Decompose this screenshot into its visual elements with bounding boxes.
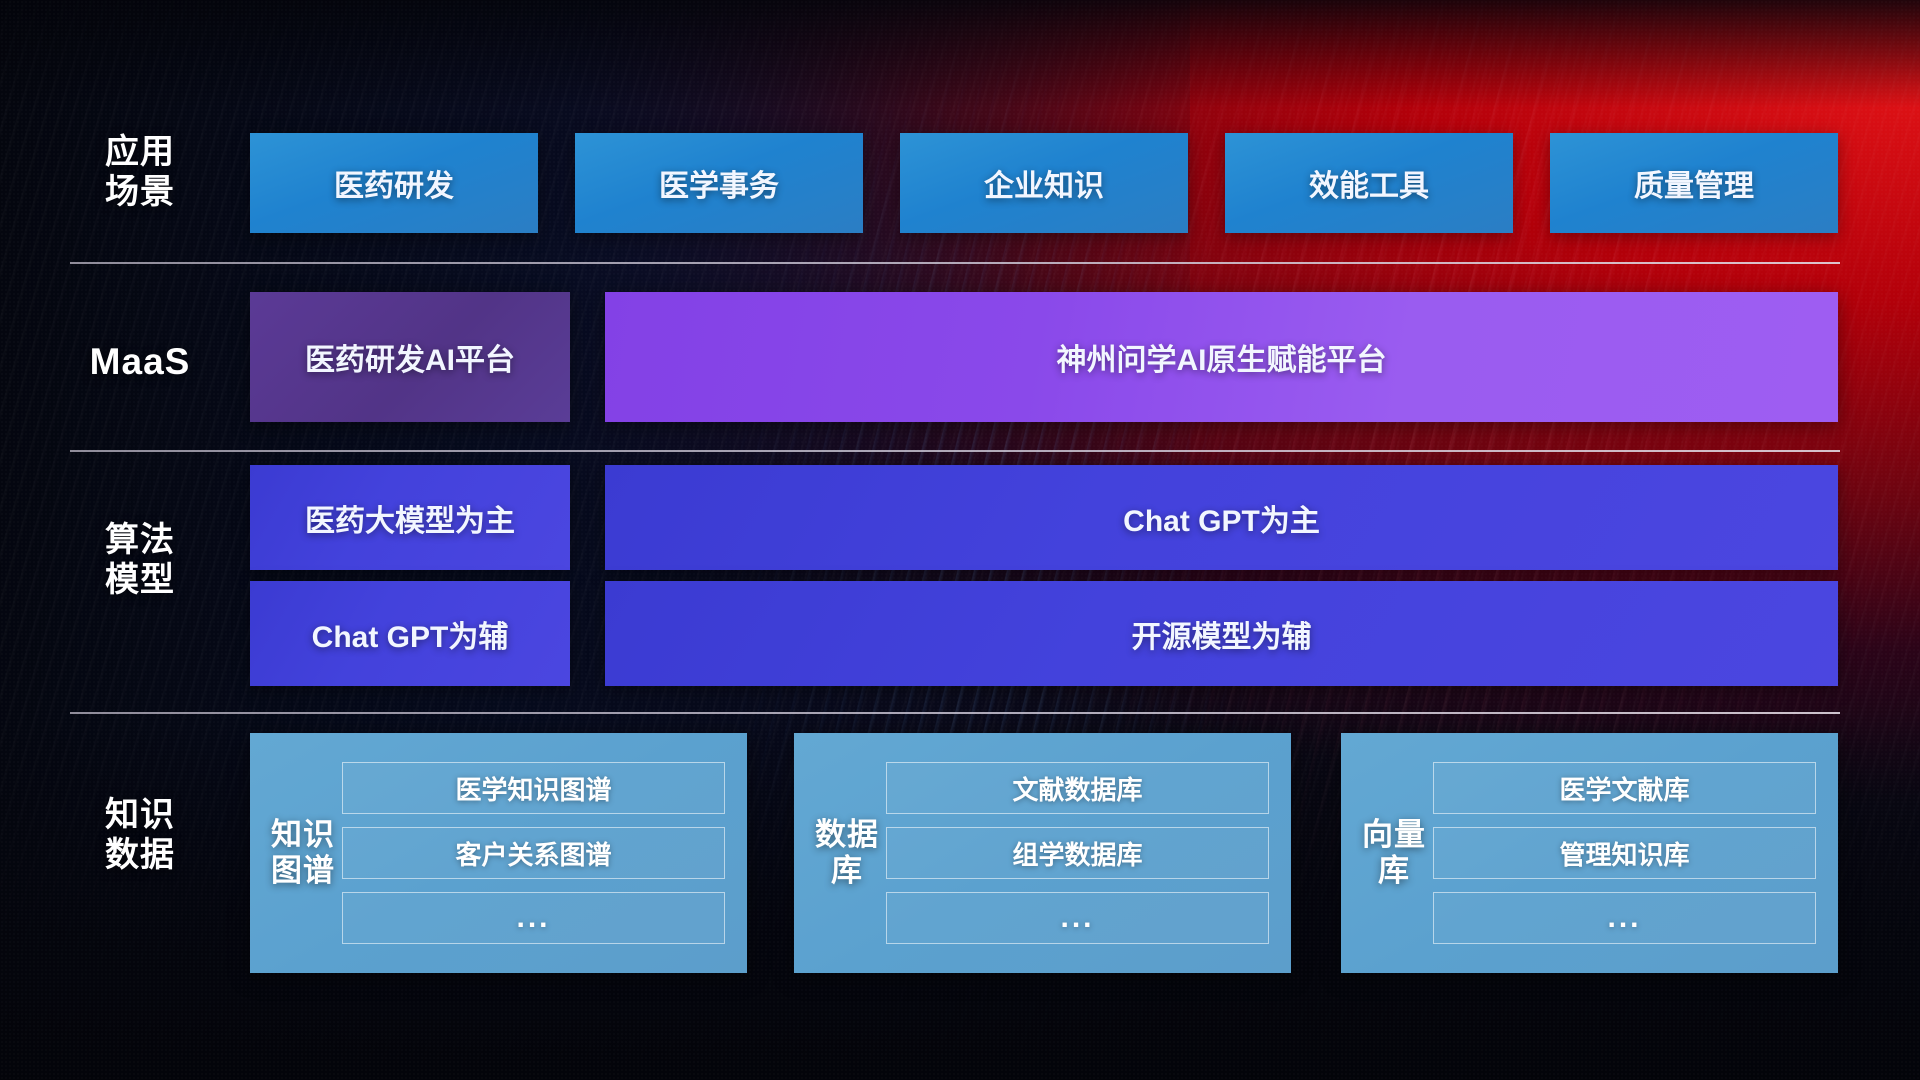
divider-2 <box>70 450 1840 452</box>
knowledge-item-more-db[interactable]: ... <box>886 892 1269 944</box>
architecture-diagram: 应用 场景 医药研发 医学事务 企业知识 效能工具 质量管理 MaaS 医药研发… <box>0 0 1920 1080</box>
knowledge-item-customer-relation-kg[interactable]: 客户关系图谱 <box>342 827 725 879</box>
row-label-maas: MaaS <box>70 340 210 384</box>
knowledge-group-title-knowledge-graph: 知识图谱 <box>264 817 342 889</box>
knowledge-item-medical-kg[interactable]: 医学知识图谱 <box>342 762 725 814</box>
divider-3 <box>70 712 1840 714</box>
slide-canvas: 应用 场景 医药研发 医学事务 企业知识 效能工具 质量管理 MaaS 医药研发… <box>0 0 1920 1080</box>
app-cell-quality-management[interactable]: 质量管理 <box>1550 133 1838 233</box>
knowledge-items-vector-db: 医学文献库 管理知识库 ... <box>1433 762 1816 944</box>
app-cell-drug-rd[interactable]: 医药研发 <box>250 133 538 233</box>
knowledge-group-title-vector-db: 向量库 <box>1355 817 1433 889</box>
algo-cell-opensource-secondary[interactable]: 开源模型为辅 <box>605 581 1838 686</box>
app-cell-medical-affairs[interactable]: 医学事务 <box>575 133 863 233</box>
knowledge-item-omics-db[interactable]: 组学数据库 <box>886 827 1269 879</box>
knowledge-group-knowledge-graph: 知识图谱 医学知识图谱 客户关系图谱 ... <box>250 733 747 973</box>
knowledge-item-literature-db[interactable]: 文献数据库 <box>886 762 1269 814</box>
algo-cell-pharma-llm-primary[interactable]: 医药大模型为主 <box>250 465 570 570</box>
row-label-application-scenario: 应用 场景 <box>70 132 210 212</box>
knowledge-item-more-kg[interactable]: ... <box>342 892 725 944</box>
knowledge-items-knowledge-graph: 医学知识图谱 客户关系图谱 ... <box>342 762 725 944</box>
row-label-knowledge-data: 知识 数据 <box>70 795 210 875</box>
maas-cell-drug-rd-ai-platform[interactable]: 医药研发AI平台 <box>250 292 570 422</box>
app-cell-enterprise-knowledge[interactable]: 企业知识 <box>900 133 1188 233</box>
knowledge-item-more-vector[interactable]: ... <box>1433 892 1816 944</box>
row-label-algorithm-model: 算法 模型 <box>70 520 210 600</box>
app-cell-efficiency-tools[interactable]: 效能工具 <box>1225 133 1513 233</box>
knowledge-items-database: 文献数据库 组学数据库 ... <box>886 762 1269 944</box>
algo-cell-chatgpt-secondary[interactable]: Chat GPT为辅 <box>250 581 570 686</box>
algo-cell-chatgpt-primary[interactable]: Chat GPT为主 <box>605 465 1838 570</box>
knowledge-group-title-database: 数据库 <box>808 817 886 889</box>
divider-1 <box>70 262 1840 264</box>
knowledge-group-vector-db: 向量库 医学文献库 管理知识库 ... <box>1341 733 1838 973</box>
knowledge-item-management-knowledge-lib[interactable]: 管理知识库 <box>1433 827 1816 879</box>
knowledge-item-medical-literature-lib[interactable]: 医学文献库 <box>1433 762 1816 814</box>
knowledge-group-database: 数据库 文献数据库 组学数据库 ... <box>794 733 1291 973</box>
maas-cell-shenzhou-wenxue-platform[interactable]: 神州问学AI原生赋能平台 <box>605 292 1838 422</box>
